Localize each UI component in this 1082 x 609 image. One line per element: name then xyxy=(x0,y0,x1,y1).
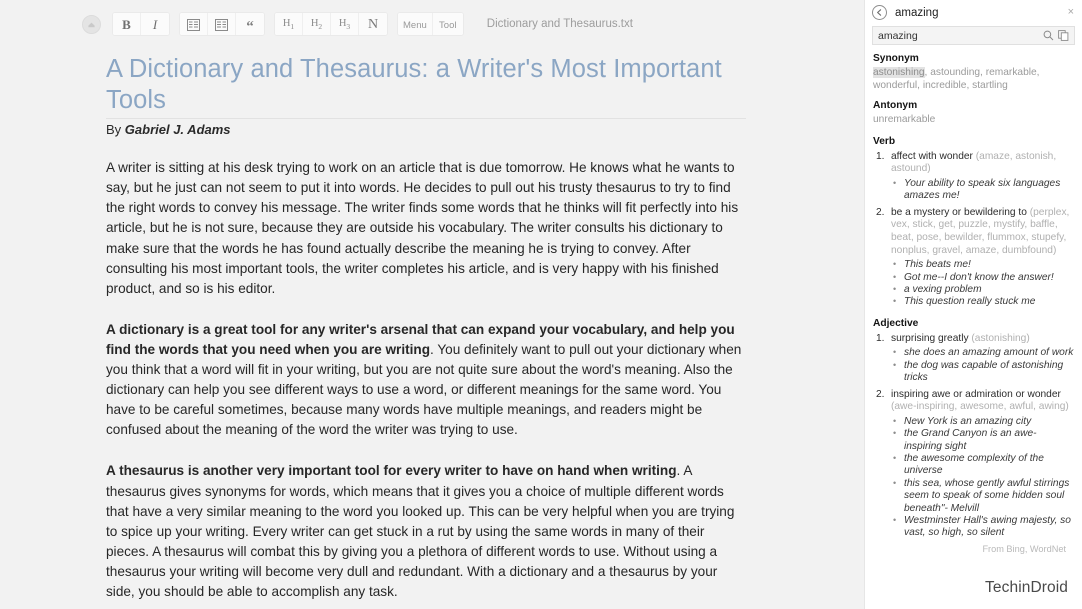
pos-label: Verb xyxy=(873,136,1074,147)
indent-decrease-icon xyxy=(215,19,228,31)
pos-section-verb: Verb 1.affect with wonder (amaze, astoni… xyxy=(873,136,1074,309)
example-item: Westminster Hall's awing majesty, so vas… xyxy=(891,515,1074,540)
definition-item: 2.inspiring awe or admiration or wonder … xyxy=(873,389,1074,540)
example-item: the awesome complexity of the universe xyxy=(891,453,1074,478)
definition-number: 2. xyxy=(876,389,885,402)
definition-number: 1. xyxy=(876,151,885,164)
heading3-button[interactable]: H3 xyxy=(331,13,359,36)
bold-button[interactable]: B xyxy=(113,13,141,36)
example-item: the dog was capable of astonishing trick… xyxy=(891,360,1074,385)
editor-pane: B I xyxy=(0,0,864,609)
normal-text-button[interactable]: N xyxy=(359,13,387,36)
paragraph-text: . A thesaurus gives synonyms for words, … xyxy=(106,463,734,599)
source-attribution: From Bing, WordNet xyxy=(873,544,1074,556)
list-group: “ xyxy=(179,12,265,36)
dictionary-sidebar: amazing × Synonym astonishing, astoundin… xyxy=(864,0,1082,609)
definition-item: 2.be a mystery or bewildering to (perple… xyxy=(873,207,1074,309)
document-body[interactable]: A Dictionary and Thesaurus: a Writer's M… xyxy=(0,48,864,602)
copy-icon[interactable] xyxy=(1056,28,1071,43)
chevron-up-circle-icon[interactable] xyxy=(82,15,101,34)
example-item: This beats me! xyxy=(891,259,1074,271)
heading-1-icon: H1 xyxy=(283,18,294,31)
document-byline: By Gabriel J. Adams xyxy=(106,122,746,137)
definition-number: 2. xyxy=(876,207,885,220)
italic-button[interactable]: I xyxy=(141,13,169,36)
example-item: a vexing problem xyxy=(891,284,1074,296)
definition-gloss: inspiring awe or admiration or wonder xyxy=(891,389,1061,400)
text-style-group: B I xyxy=(112,12,170,36)
example-list: Your ability to speak six languages amaz… xyxy=(891,178,1074,203)
heading-3-icon: H3 xyxy=(339,18,350,31)
example-item: Your ability to speak six languages amaz… xyxy=(891,178,1074,203)
app-window: B I xyxy=(0,0,1082,609)
example-item: she does an amazing amount of work xyxy=(891,347,1074,359)
synonym-highlighted: astonishing xyxy=(873,67,925,78)
definition-item: 1.surprising greatly (astonishing) she d… xyxy=(873,333,1074,385)
definition-synonyms: (awe-inspiring, awesome, awful, awing) xyxy=(891,401,1069,412)
antonym-list: unremarkable xyxy=(873,114,1074,127)
paragraph-bold-lead: A thesaurus is another very important to… xyxy=(106,463,677,478)
document-author: Gabriel J. Adams xyxy=(125,122,231,137)
byline-prefix: By xyxy=(106,122,125,137)
pos-label: Adjective xyxy=(873,318,1074,329)
sidebar-content[interactable]: Synonym astonishing, astounding, remarka… xyxy=(865,45,1082,609)
definition-gloss: affect with wonder xyxy=(891,151,976,162)
heading1-button[interactable]: H1 xyxy=(275,13,303,36)
document-paragraph: A writer is sitting at his desk trying t… xyxy=(106,158,746,299)
indent-increase-button[interactable] xyxy=(180,13,208,36)
tool-button[interactable]: Tool xyxy=(433,13,463,36)
watermark: TechinDroid xyxy=(985,579,1068,597)
definition-item: 1.affect with wonder (amaze, astonish, a… xyxy=(873,151,1074,203)
document-title: A Dictionary and Thesaurus: a Writer's M… xyxy=(106,54,746,119)
example-item: This question really stuck me xyxy=(891,296,1074,308)
synonym-heading: Synonym xyxy=(873,53,1074,64)
definition-gloss: surprising greatly xyxy=(891,333,971,344)
example-item: New York is an amazing city xyxy=(891,416,1074,428)
search-icon[interactable] xyxy=(1041,28,1056,43)
paragraph-text: A writer is sitting at his desk trying t… xyxy=(106,160,738,296)
heading2-button[interactable]: H2 xyxy=(303,13,331,36)
example-list: New York is an amazing city the Grand Ca… xyxy=(891,416,1074,540)
example-list: she does an amazing amount of work the d… xyxy=(891,347,1074,384)
editor-toolbar: B I xyxy=(0,0,864,48)
close-icon[interactable]: × xyxy=(1066,7,1076,18)
open-filename-label: Dictionary and Thesaurus.txt xyxy=(487,18,633,30)
definition-synonyms: (astonishing) xyxy=(971,333,1029,344)
document-paragraph: A dictionary is a great tool for any wri… xyxy=(106,320,746,441)
sidebar-header: amazing × xyxy=(865,0,1082,25)
pos-section-adjective: Adjective 1.surprising greatly (astonish… xyxy=(873,318,1074,540)
quote-icon: “ xyxy=(246,23,254,32)
definition-gloss: be a mystery or bewildering to xyxy=(891,207,1030,218)
blockquote-button[interactable]: “ xyxy=(236,13,264,36)
example-list: This beats me! Got me--I don't know the … xyxy=(891,259,1074,309)
definition-number: 1. xyxy=(876,333,885,346)
example-item: the Grand Canyon is an awe-inspiring sig… xyxy=(891,428,1074,453)
synonym-list: astonishing, astounding, remarkable, won… xyxy=(873,67,1074,92)
definition-list: 1.surprising greatly (astonishing) she d… xyxy=(873,333,1074,540)
search-input[interactable] xyxy=(878,30,1041,42)
definition-list: 1.affect with wonder (amaze, astonish, a… xyxy=(873,151,1074,309)
sidebar-search-row xyxy=(872,26,1075,45)
heading-group: H1 H2 H3 N xyxy=(274,12,388,36)
sidebar-lookup-title: amazing xyxy=(895,7,1066,19)
heading-2-icon: H2 xyxy=(311,18,322,31)
example-item: Got me--I don't know the answer! xyxy=(891,272,1074,284)
back-arrow-circle-icon[interactable] xyxy=(872,5,887,20)
example-item: this sea, whose gently awful stirrings s… xyxy=(891,478,1074,515)
indent-decrease-button[interactable] xyxy=(208,13,236,36)
antonym-heading: Antonym xyxy=(873,100,1074,111)
indent-increase-icon xyxy=(187,19,200,31)
menu-tool-group: Menu Tool xyxy=(397,12,464,36)
document-paragraph: A thesaurus is another very important to… xyxy=(106,461,746,602)
menu-button[interactable]: Menu xyxy=(398,13,433,36)
